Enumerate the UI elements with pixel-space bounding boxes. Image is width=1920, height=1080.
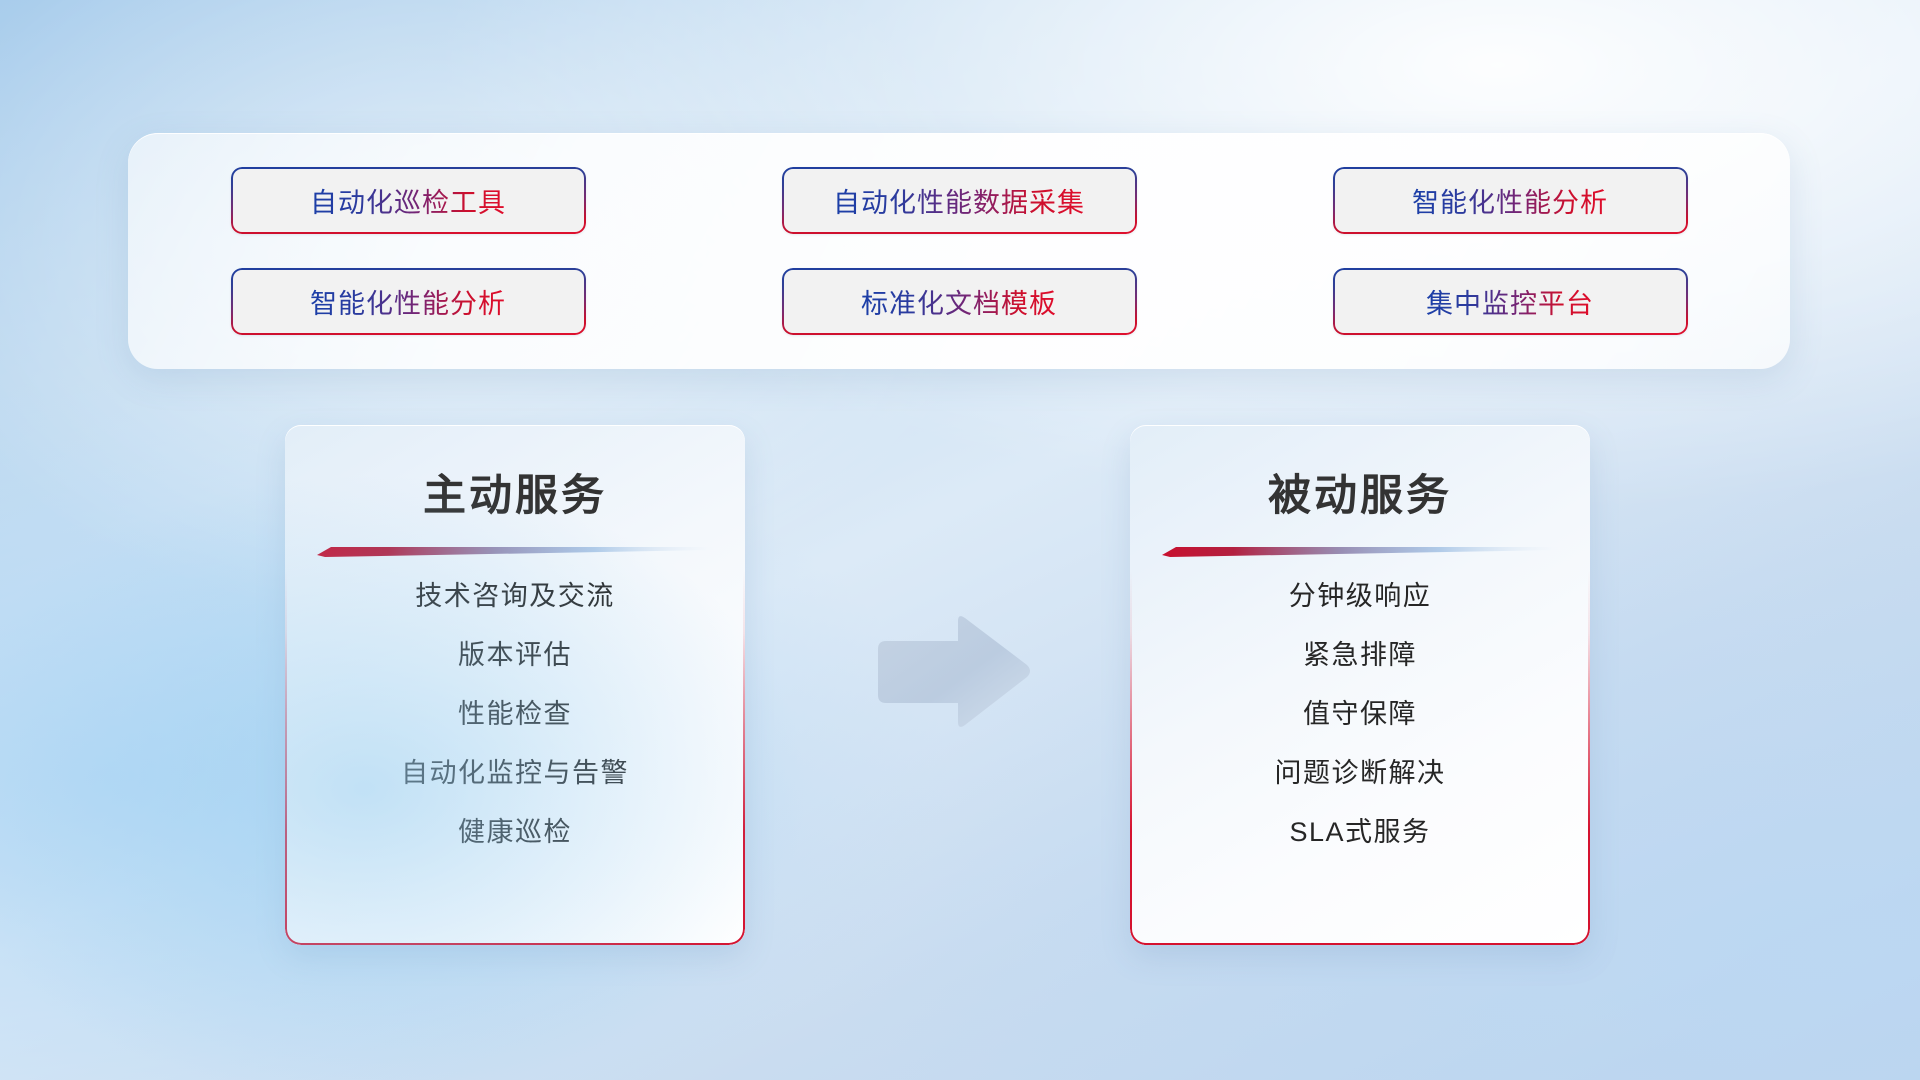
service-card-proactive-list: 技术咨询及交流 版本评估 性能检查 自动化监控与告警 健康巡检 [285, 577, 745, 852]
capability-panel: 自动化巡检工具 自动化性能数据采集 智能化性能分析 智能化性能分析 标准化文档模… [128, 133, 1790, 369]
capability-pill-4-label: 智能化性能分析 [310, 282, 506, 321]
capability-pill-1-label: 自动化巡检工具 [310, 181, 506, 220]
list-item: 技术咨询及交流 [415, 577, 615, 616]
capability-pill-4[interactable]: 智能化性能分析 [231, 268, 586, 335]
list-item: 性能检查 [458, 695, 572, 734]
capability-pill-5[interactable]: 标准化文档模板 [782, 268, 1137, 335]
capability-pill-2[interactable]: 自动化性能数据采集 [782, 167, 1137, 234]
list-item: 版本评估 [458, 636, 572, 675]
list-item: 健康巡检 [458, 813, 572, 852]
capability-pill-3[interactable]: 智能化性能分析 [1333, 167, 1688, 234]
capability-pill-6[interactable]: 集中监控平台 [1333, 268, 1688, 335]
service-card-reactive: 被动服务 分钟级响应 紧急排障 值守保障 问题诊断解决 [1130, 425, 1590, 945]
capability-pill-3-label: 智能化性能分析 [1412, 181, 1608, 220]
slide-canvas: 自动化巡检工具 自动化性能数据采集 智能化性能分析 智能化性能分析 标准化文档模… [0, 0, 1920, 1080]
list-item: 问题诊断解决 [1275, 754, 1446, 793]
list-item: 紧急排障 [1303, 636, 1417, 675]
capability-pill-6-label: 集中监控平台 [1426, 282, 1594, 321]
capability-pill-2-label: 自动化性能数据采集 [833, 181, 1085, 220]
list-item: 值守保障 [1303, 695, 1417, 734]
list-item: 自动化监控与告警 [401, 754, 629, 793]
capability-pill-5-label: 标准化文档模板 [861, 282, 1057, 321]
list-item: SLA式服务 [1289, 813, 1430, 852]
title-divider [1162, 545, 1558, 557]
capability-pill-1[interactable]: 自动化巡检工具 [231, 167, 586, 234]
capability-pill-grid: 自动化巡检工具 自动化性能数据采集 智能化性能分析 智能化性能分析 标准化文档模… [128, 133, 1790, 369]
service-card-reactive-list: 分钟级响应 紧急排障 值守保障 问题诊断解决 SLA式服务 [1130, 577, 1590, 852]
title-divider [317, 545, 713, 557]
arrow-right-icon [872, 613, 1032, 731]
service-card-proactive-title: 主动服务 [285, 461, 745, 523]
service-card-reactive-title: 被动服务 [1130, 461, 1590, 523]
service-card-proactive: 主动服务 技术咨询及交流 版本评估 性能检查 自动化监控与告警 [285, 425, 745, 945]
list-item: 分钟级响应 [1289, 577, 1432, 616]
